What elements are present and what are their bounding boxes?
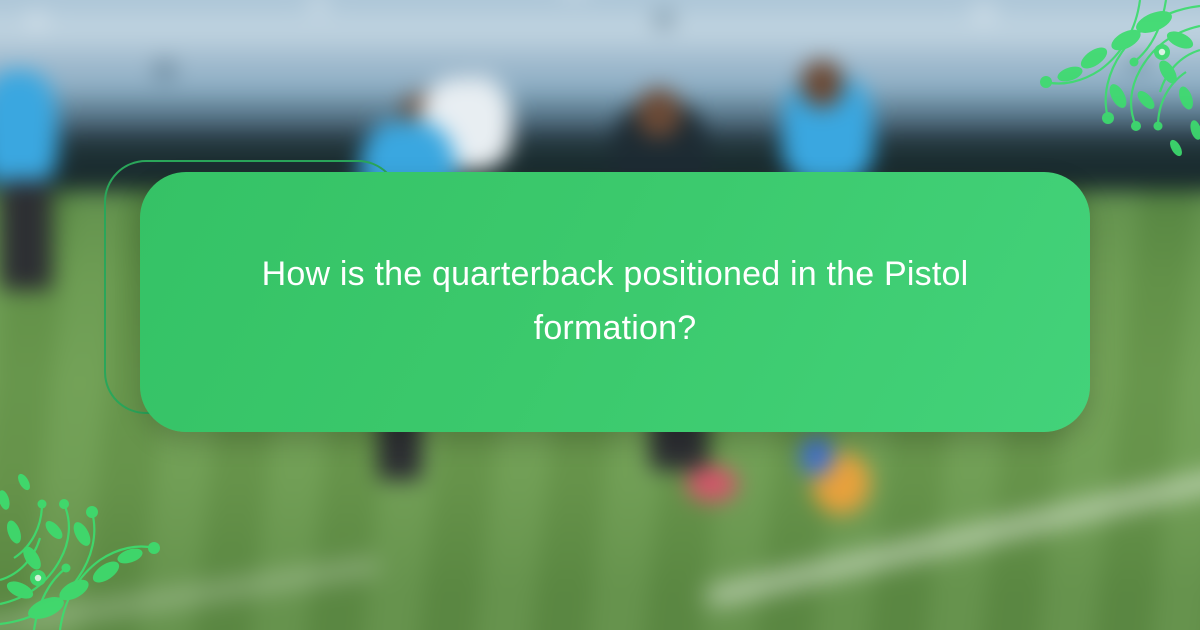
player-blue-left [0, 70, 58, 190]
player-shoe-red [686, 466, 738, 502]
player-blue-left-legs [0, 180, 52, 290]
question-card: How is the quarterback positioned in the… [140, 172, 1090, 432]
filigree-ornament-bottom-left [0, 440, 210, 630]
question-text: How is the quarterback positioned in the… [225, 248, 1005, 355]
screenshot-canvas: How is the quarterback positioned in the… [0, 0, 1200, 630]
filigree-ornament-top-right [990, 0, 1200, 190]
player-blue-right-head [800, 60, 844, 108]
player-dark-head [636, 88, 682, 138]
player-shoe-blue [800, 436, 834, 476]
